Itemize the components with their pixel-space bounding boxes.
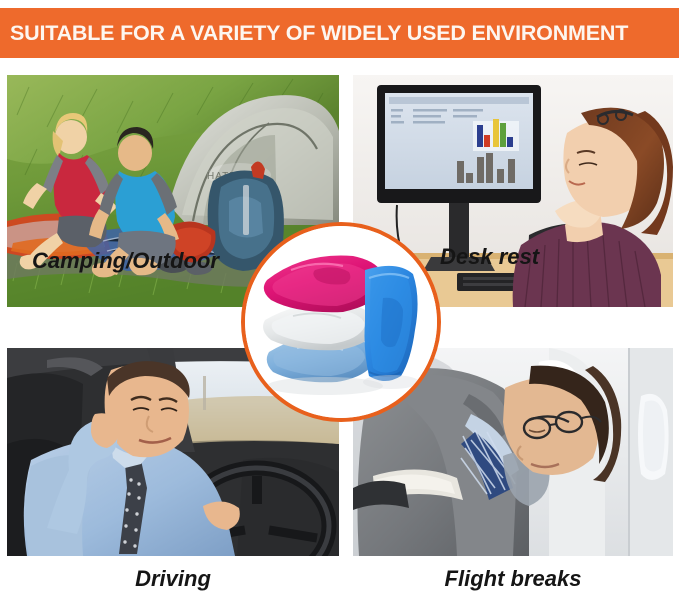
header-banner: SUITABLE FOR A VARIETY OF WIDELY USED EN… xyxy=(0,8,679,58)
product-inset-circle xyxy=(241,222,441,422)
product-infographic: SUITABLE FOR A VARIETY OF WIDELY USED EN… xyxy=(0,0,679,603)
page-title: SUITABLE FOR A VARIETY OF WIDELY USED EN… xyxy=(10,21,628,46)
caption-flight: Flight breaks xyxy=(353,566,673,592)
inflatable-pillows-illustration xyxy=(245,226,437,418)
caption-driving: Driving xyxy=(7,566,339,592)
caption-desk: Desk rest xyxy=(400,244,679,270)
